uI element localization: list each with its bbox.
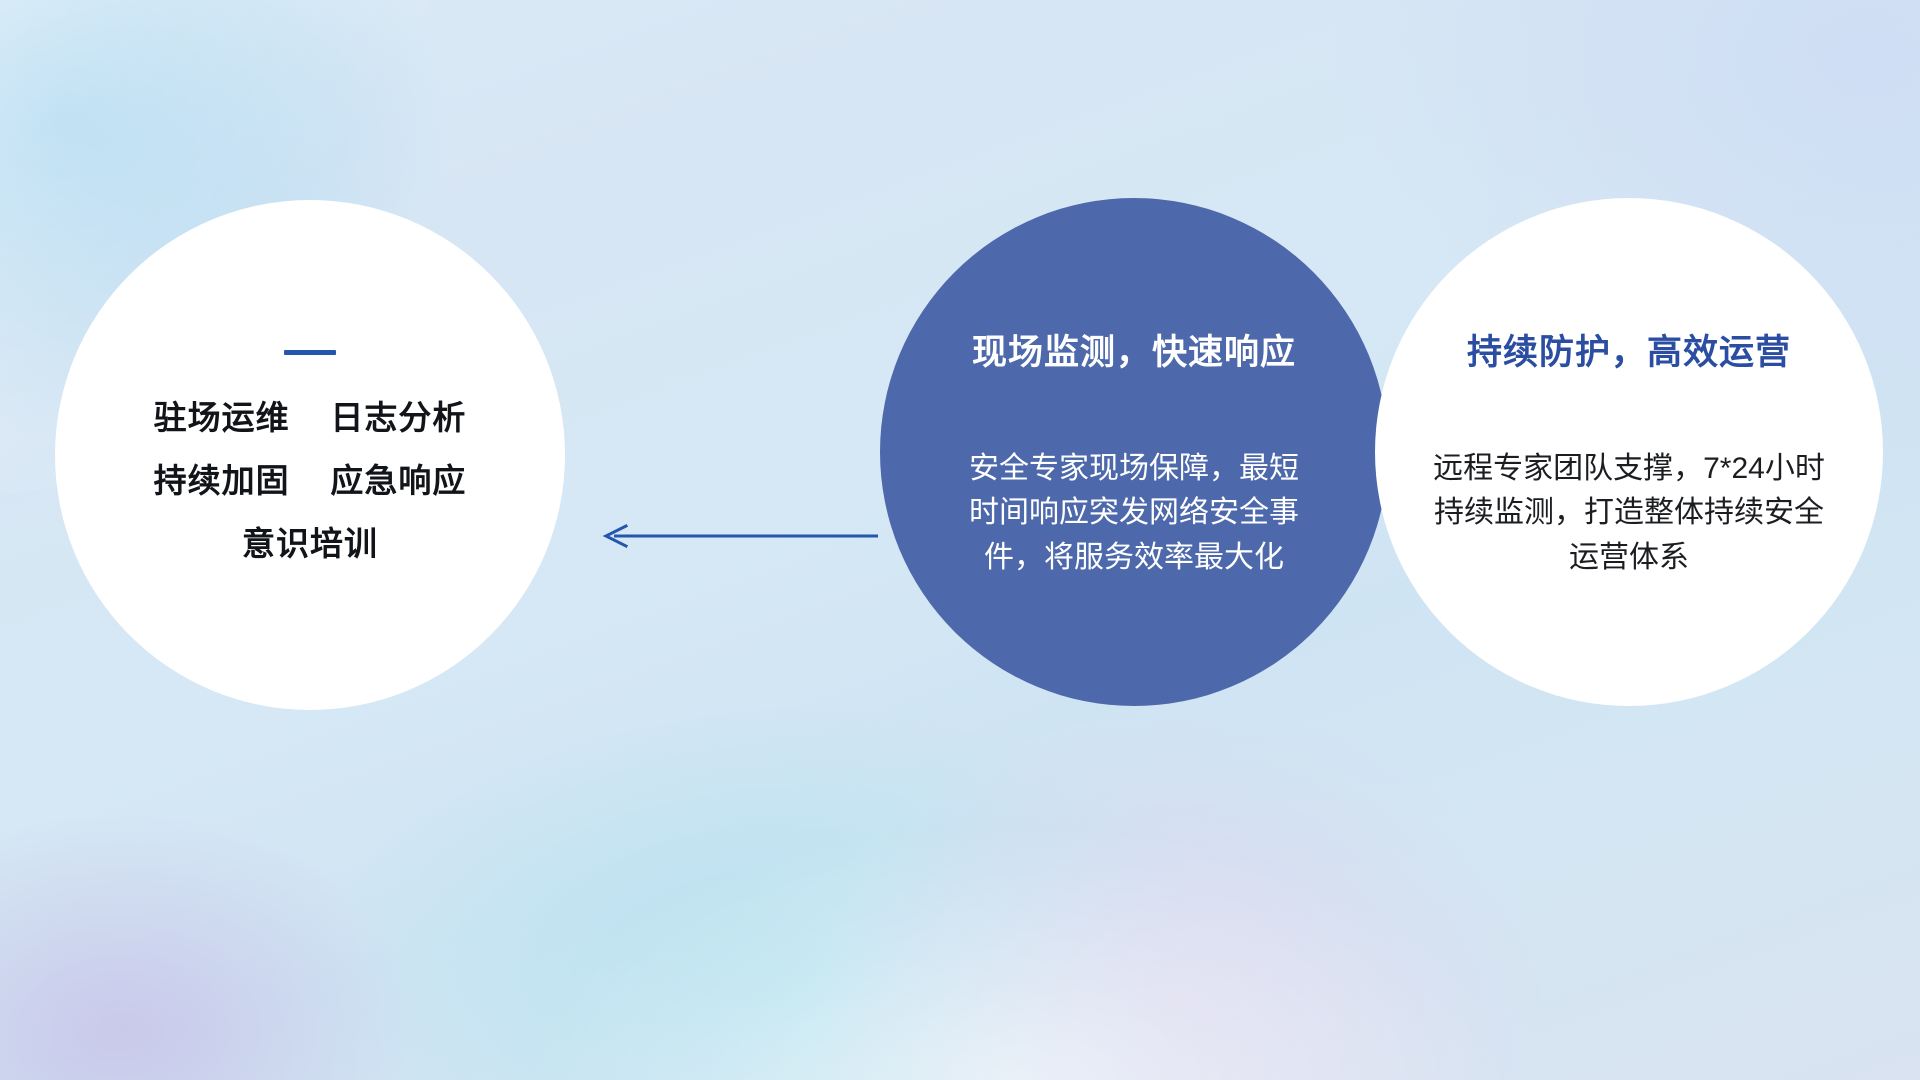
continuous-protection-circle: 持续防护，高效运营 远程专家团队支撑，7*24小时持续监测，打造整体持续安全运营… — [1375, 198, 1883, 706]
continuous-protection-body: 远程专家团队支撑，7*24小时持续监测，打造整体持续安全运营体系 — [1429, 447, 1829, 580]
onsite-monitoring-circle: 现场监测，快速响应 安全专家现场保障，最短时间响应突发网络安全事件，将服务效率最… — [880, 198, 1388, 706]
left-arrow-connector — [600, 524, 880, 548]
onsite-monitoring-body: 安全专家现场保障，最短时间响应突发网络安全事件，将服务效率最大化 — [969, 447, 1299, 580]
keyword-line-2: 持续加固 应急响应 — [154, 464, 467, 497]
service-keywords-circle: 驻场运维 日志分析 持续加固 应急响应 意识培训 — [55, 200, 565, 710]
continuous-protection-title: 持续防护，高效运营 — [1467, 324, 1791, 375]
title-divider-rule — [284, 350, 336, 355]
keyword-line-3: 意识培训 — [242, 527, 378, 560]
background-glow-bottom — [520, 820, 1520, 1080]
slide-canvas: 驻场运维 日志分析 持续加固 应急响应 意识培训 现场监测，快速响应 安全专家现… — [0, 0, 1920, 1080]
keyword-line-1: 驻场运维 日志分析 — [154, 401, 467, 434]
onsite-monitoring-title: 现场监测，快速响应 — [972, 324, 1296, 375]
